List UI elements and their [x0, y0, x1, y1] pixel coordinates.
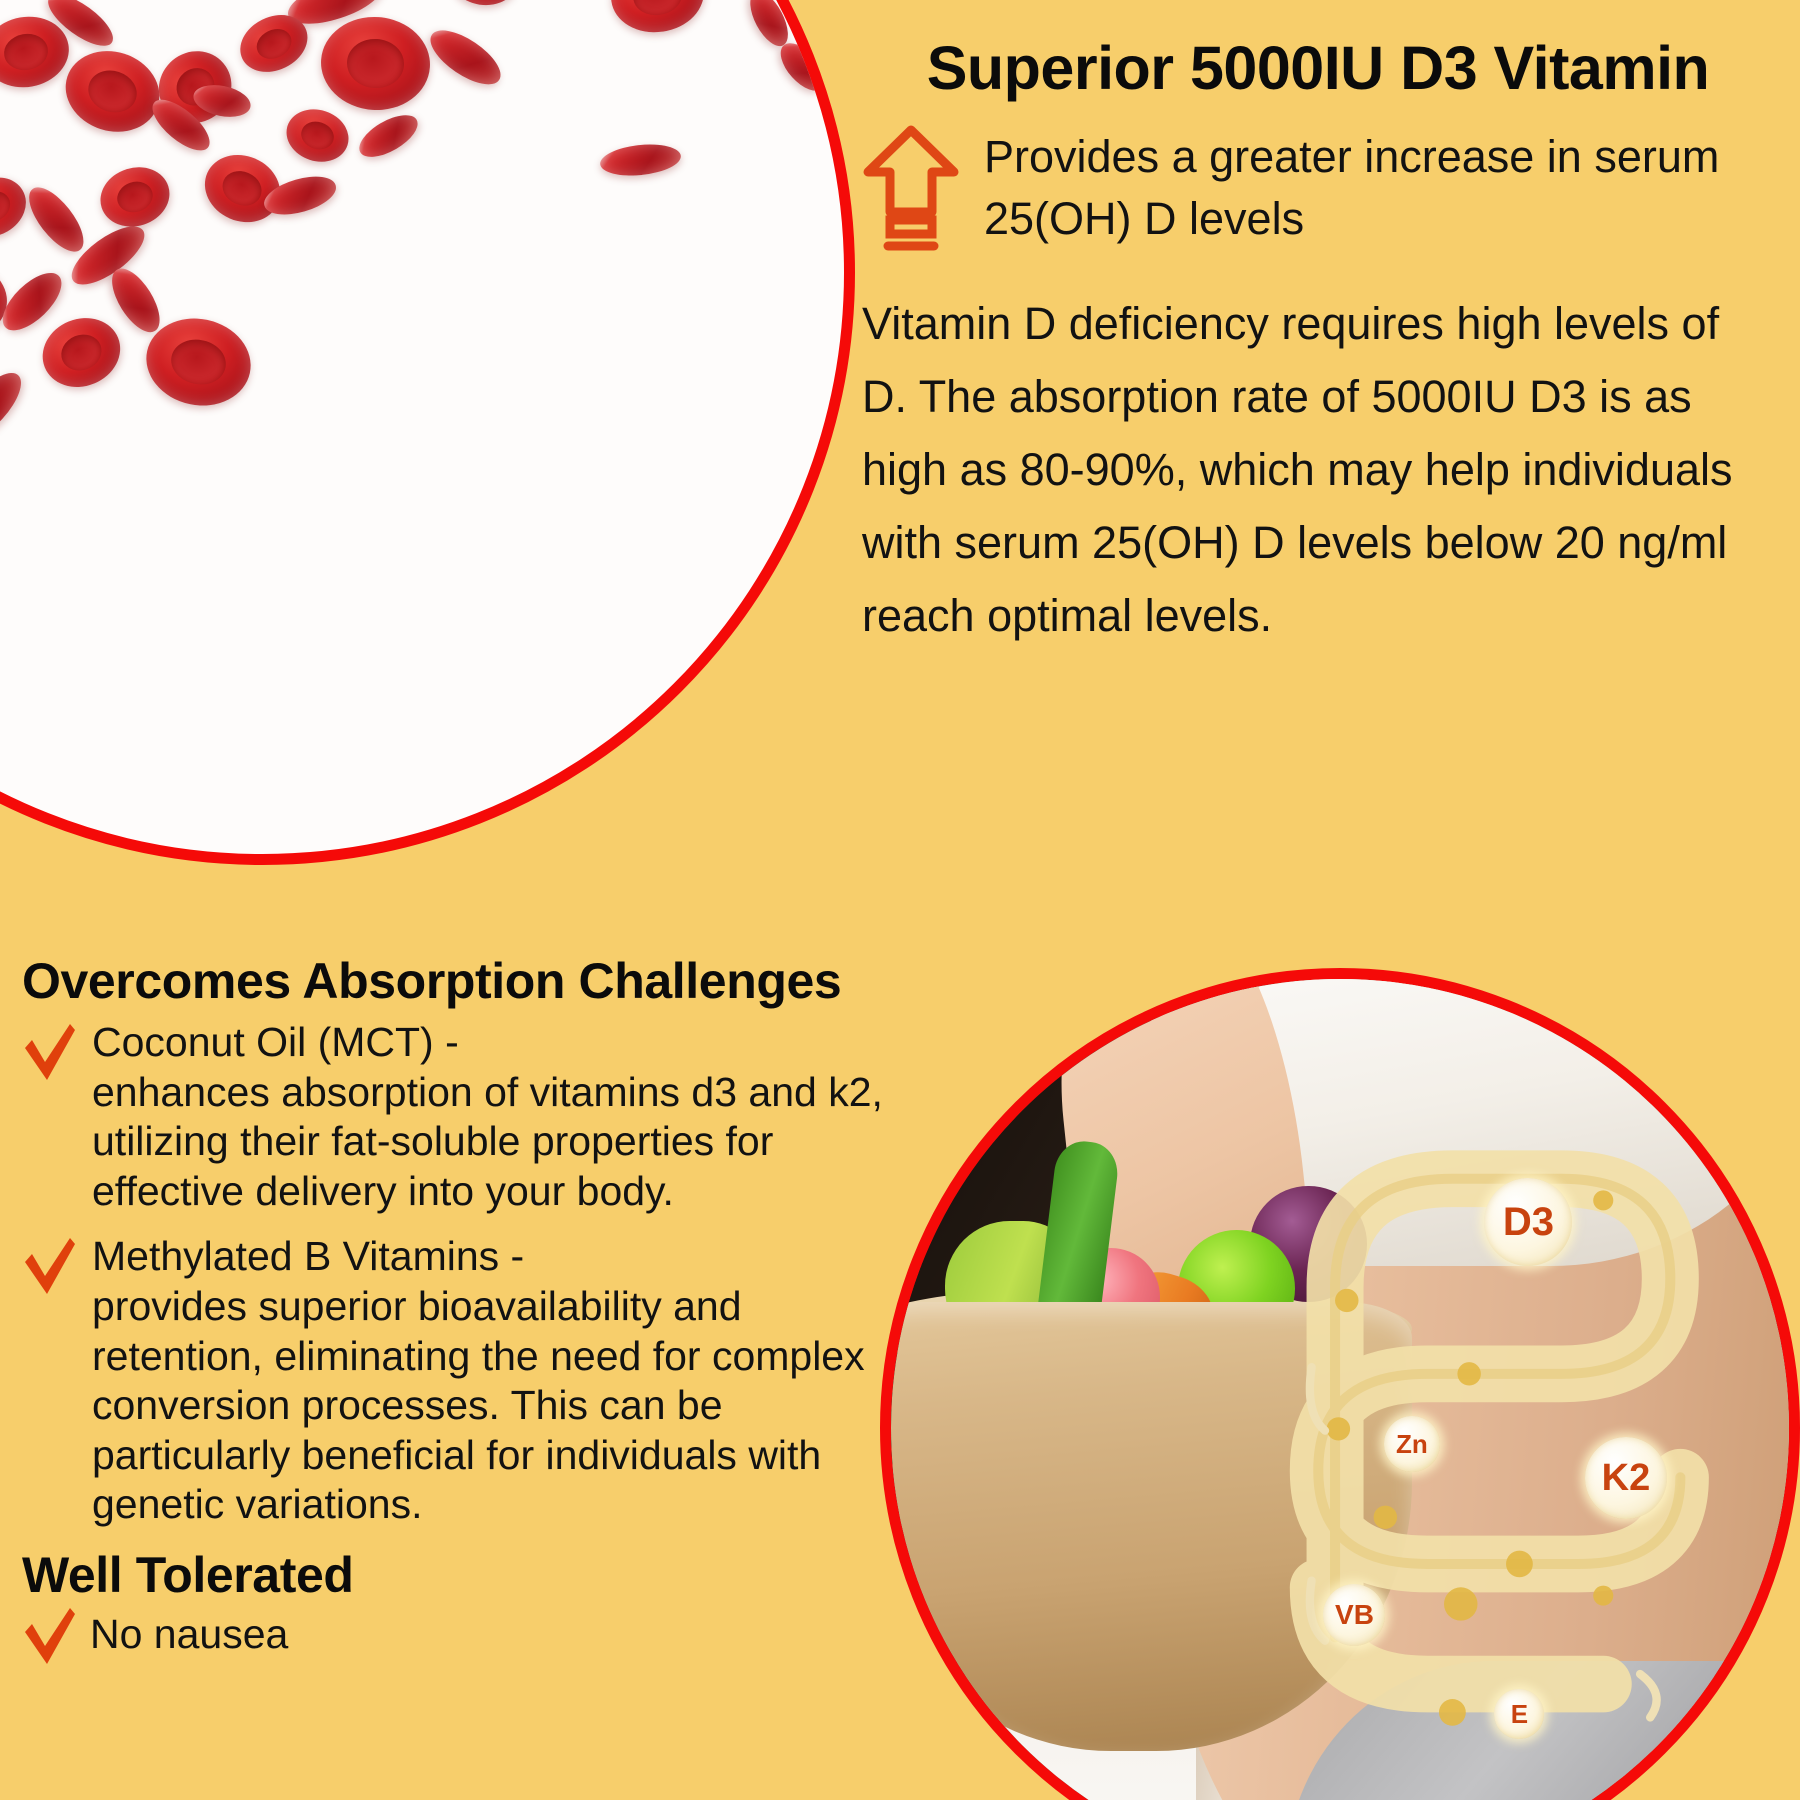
check-icon: [22, 1606, 76, 1666]
list-item: Methylated B Vitamins - provides superio…: [22, 1232, 902, 1530]
badge-d3: D3: [1484, 1178, 1572, 1266]
list-item-text: Methylated B Vitamins - provides superio…: [92, 1232, 902, 1530]
list-item: No nausea: [22, 1606, 902, 1666]
arrow-up-icon: [862, 124, 960, 254]
badge-zn: Zn: [1384, 1416, 1440, 1472]
badge-k2: K2: [1585, 1437, 1667, 1519]
infographic-page: Superior 5000IU D3 Vitamin Provides a gr…: [0, 0, 1800, 1800]
list-item-lead: Methylated B Vitamins -: [92, 1232, 902, 1282]
check-icon: [22, 1236, 78, 1298]
absorption-section-title: Overcomes Absorption Challenges: [22, 952, 902, 1010]
digestive-absorption-circle: D3 Zn K2 VB E: [880, 968, 1800, 1800]
absorption-section: Overcomes Absorption Challenges Coconut …: [22, 952, 902, 1682]
red-blood-cells-circle: [0, 0, 855, 865]
claim-text: Provides a greater increase in serum 25(…: [984, 118, 1774, 250]
list-item-text: Coconut Oil (MCT) - enhances absorption …: [92, 1018, 902, 1216]
check-icon: [22, 1022, 78, 1084]
body-paragraph: Vitamin D deficiency requires high level…: [862, 288, 1774, 652]
list-item-detail: provides superior bioavailability and re…: [92, 1283, 865, 1527]
list-item-text: No nausea: [90, 1606, 288, 1660]
intestine-diagram: D3 Zn K2 VB E: [1268, 1087, 1771, 1787]
list-item-lead: Coconut Oil (MCT) -: [92, 1018, 902, 1068]
red-blood-cells-photo: [0, 0, 844, 854]
list-item-detail: enhances absorption of vitamins d3 and k…: [92, 1069, 883, 1214]
right-content-column: Superior 5000IU D3 Vitamin Provides a gr…: [862, 36, 1774, 698]
page-title: Superior 5000IU D3 Vitamin: [862, 36, 1774, 100]
list-item: Coconut Oil (MCT) - enhances absorption …: [22, 1018, 902, 1216]
claim-row: Provides a greater increase in serum 25(…: [862, 118, 1774, 254]
digestive-absorption-photo: D3 Zn K2 VB E: [891, 979, 1789, 1800]
tolerance-section-title: Well Tolerated: [22, 1546, 902, 1604]
